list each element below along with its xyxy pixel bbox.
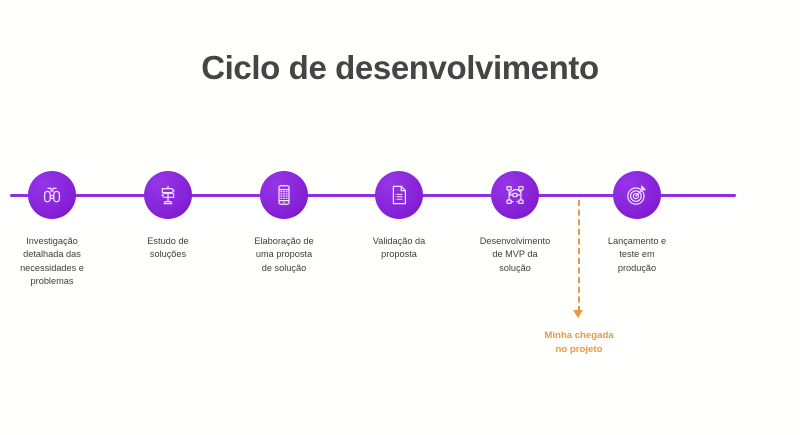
signpost-icon	[156, 183, 180, 207]
stage-node-circle[interactable]	[491, 171, 539, 219]
page-title: Ciclo de desenvolvimento	[0, 49, 800, 87]
stage-label: Estudo de soluções	[108, 235, 228, 262]
stage-label: Elaboração de uma proposta de solução	[224, 235, 344, 275]
stage-label: Validação da proposta	[339, 235, 459, 262]
binoculars-icon	[40, 183, 64, 207]
stage-node-circle[interactable]	[28, 171, 76, 219]
slide-canvas: Ciclo de desenvolvimento Investigação de…	[0, 0, 800, 435]
mobile-phone-icon	[272, 183, 296, 207]
stage-node-circle[interactable]	[260, 171, 308, 219]
timeline-stage-lancamento[interactable]: Lançamento e teste em produção	[577, 171, 697, 275]
network-diagram-icon	[503, 183, 527, 207]
timeline-stage-validacao[interactable]: Validação da proposta	[339, 171, 459, 262]
target-dart-icon	[625, 183, 649, 207]
stage-label: Investigação detalhada das necessidades …	[0, 235, 112, 289]
stage-label: Desenvolvimento de MVP da solução	[455, 235, 575, 275]
timeline-stage-estudo[interactable]: Estudo de soluções	[108, 171, 228, 262]
document-checklist-icon	[387, 183, 411, 207]
annotation-label: Minha chegada no projeto	[499, 329, 659, 356]
annotation-dashed-line-icon	[578, 200, 580, 312]
stage-node-circle[interactable]	[144, 171, 192, 219]
timeline-stage-investigacao[interactable]: Investigação detalhada das necessidades …	[0, 171, 112, 289]
timeline-stage-elaboracao[interactable]: Elaboração de uma proposta de solução	[224, 171, 344, 275]
timeline-stage-mvp[interactable]: Desenvolvimento de MVP da solução	[455, 171, 575, 275]
stage-node-circle[interactable]	[375, 171, 423, 219]
stage-node-circle[interactable]	[613, 171, 661, 219]
stage-label: Lançamento e teste em produção	[577, 235, 697, 275]
annotation-arrow-down-icon	[573, 310, 583, 318]
